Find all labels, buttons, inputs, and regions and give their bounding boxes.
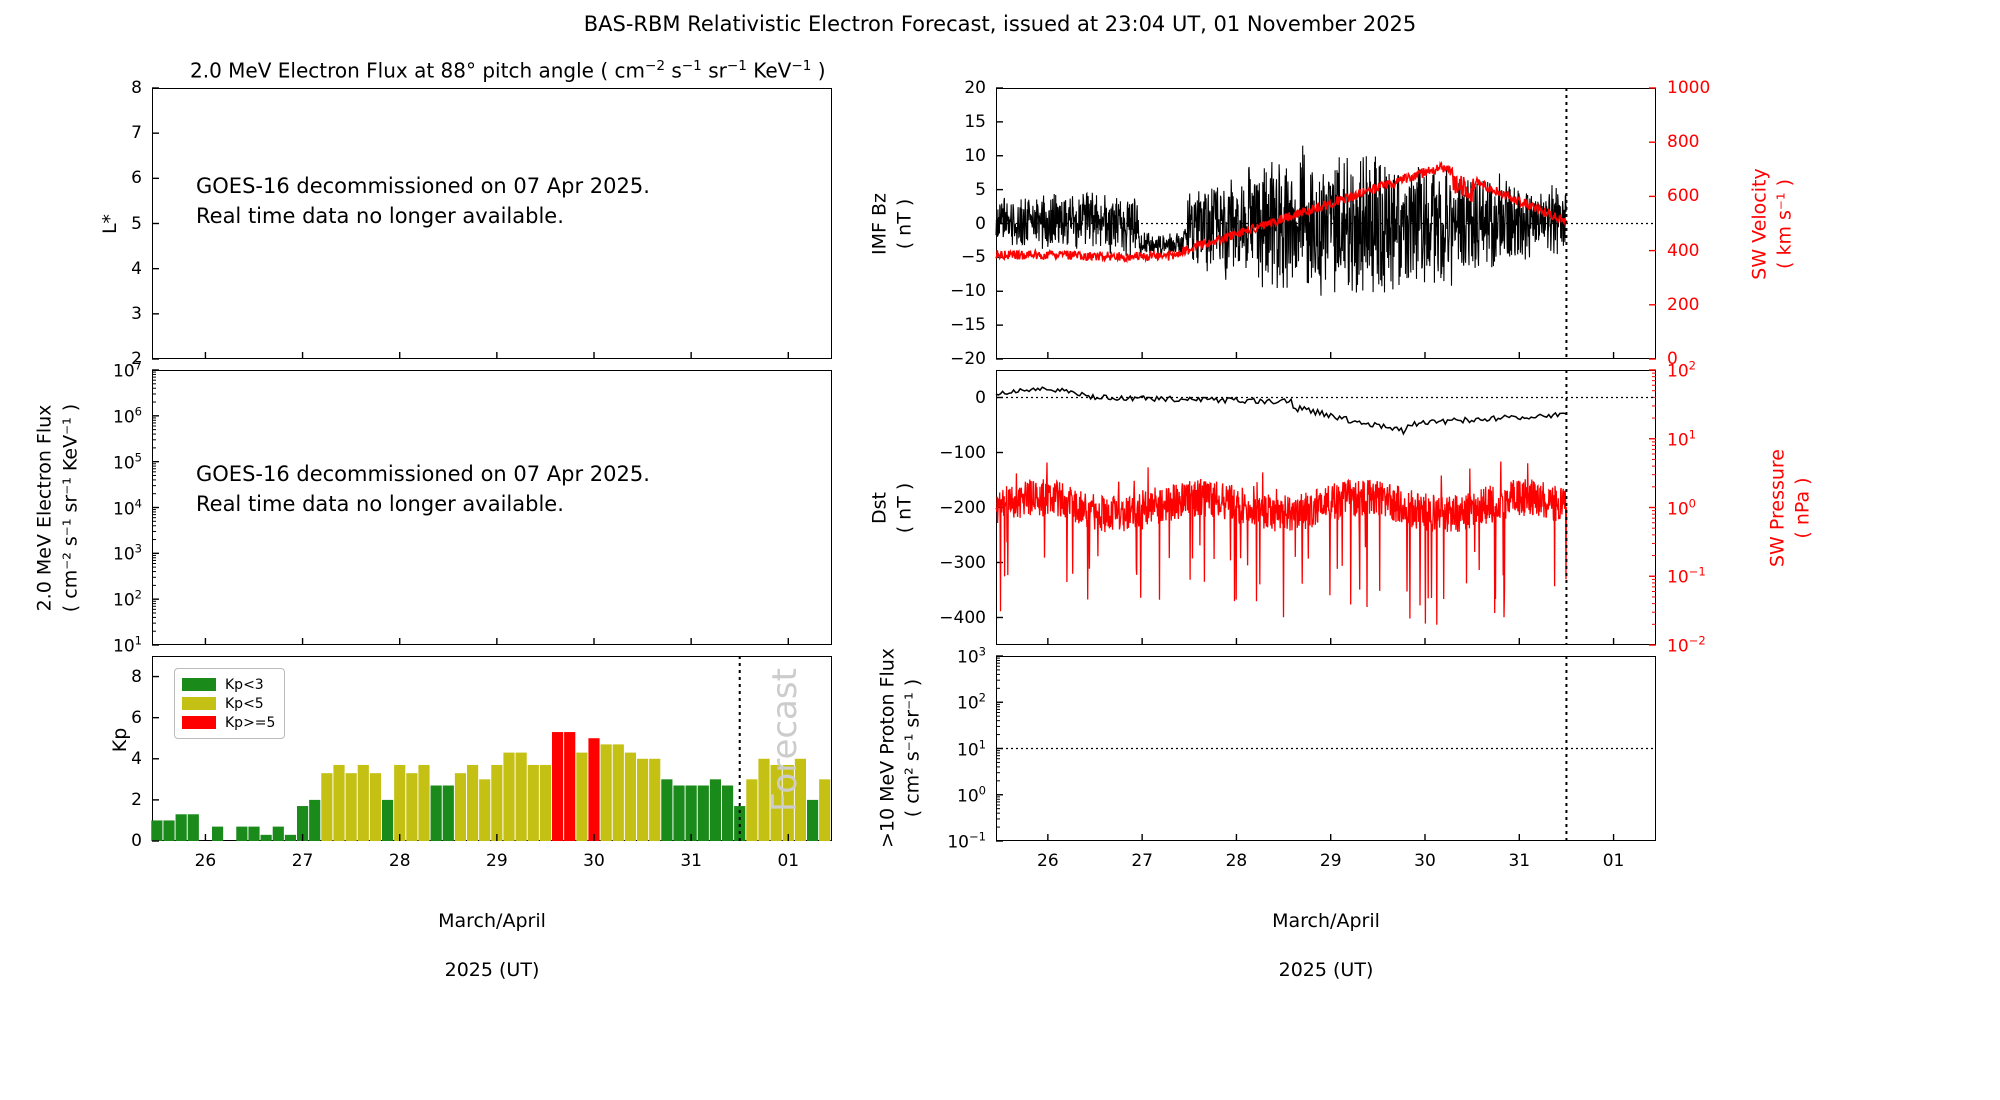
axis-tick-label: −20 bbox=[950, 349, 986, 369]
axis-tick-label: 101 bbox=[1667, 427, 1696, 450]
legend-label: Kp<3 bbox=[225, 677, 264, 693]
x-axis-line1: March/April bbox=[352, 909, 632, 934]
lstar-decommission-notice: GOES-16 decommissioned on 07 Apr 2025. R… bbox=[196, 172, 650, 232]
imf-axis-line2: ( nT ) bbox=[892, 193, 917, 255]
x-axis-line2: 2025 (UT) bbox=[352, 958, 632, 983]
flux-axis-line2: ( cm⁻² s⁻¹ sr⁻¹ KeV⁻¹ ) bbox=[58, 404, 84, 612]
x-axis-tick: 31 bbox=[680, 851, 702, 871]
proton-axis-line2: ( cm² s⁻¹ sr⁻¹ ) bbox=[900, 648, 925, 848]
axis-tick-label: 4 bbox=[131, 259, 142, 279]
axis-tick-label: 107 bbox=[113, 359, 142, 382]
axis-tick-label: −200 bbox=[939, 498, 986, 518]
axis-tick-label: 101 bbox=[957, 737, 986, 760]
proton-flux-panel bbox=[996, 656, 1656, 841]
axis-tick-label: 106 bbox=[113, 405, 142, 428]
axis-tick-label: −15 bbox=[950, 315, 986, 335]
dst-axis-line1: Dst bbox=[867, 483, 892, 534]
x-axis-tick: 29 bbox=[1320, 851, 1342, 871]
axis-tick-label: 2 bbox=[131, 790, 142, 810]
x-axis-tick: 29 bbox=[486, 851, 508, 871]
axis-tick-label: 10 bbox=[964, 146, 986, 166]
axis-tick-label: 100 bbox=[957, 783, 986, 806]
forecast-watermark: Forecast bbox=[765, 668, 805, 812]
proton-flux-axis-label: >10 MeV Proton Flux ( cm² s⁻¹ sr⁻¹ ) bbox=[875, 648, 924, 848]
axis-tick-label: 103 bbox=[113, 542, 142, 565]
x-axis-tick: 28 bbox=[389, 851, 411, 871]
axis-tick-label: 104 bbox=[113, 496, 142, 519]
axis-tick-label: 400 bbox=[1667, 241, 1699, 261]
electron-flux-axis-label: 2.0 MeV Electron Flux ( cm⁻² s⁻¹ sr⁻¹ Ke… bbox=[32, 404, 83, 612]
swv-axis-line2: ( km s⁻¹ ) bbox=[1772, 168, 1797, 279]
axis-tick-label: 10−1 bbox=[1667, 565, 1706, 588]
legend-item: Kp<5 bbox=[182, 694, 275, 713]
imf-bz-panel bbox=[996, 88, 1656, 359]
kp-legend: Kp<3 Kp<5 Kp>=5 bbox=[174, 668, 285, 739]
x-axis-tick: 01 bbox=[777, 851, 799, 871]
axis-tick-label: 15 bbox=[964, 112, 986, 132]
axis-tick-label: 0 bbox=[975, 388, 986, 408]
axis-tick-label: 5 bbox=[975, 180, 986, 200]
axis-tick-label: 6 bbox=[131, 168, 142, 188]
axis-tick-label: 105 bbox=[113, 450, 142, 473]
imf-bz-axis-label: IMF Bz ( nT ) bbox=[867, 193, 916, 255]
x-axis-tick: 01 bbox=[1603, 851, 1625, 871]
axis-tick-label: 103 bbox=[957, 645, 986, 668]
imf-axis-line1: IMF Bz bbox=[867, 193, 892, 255]
axis-tick-label: 101 bbox=[113, 634, 142, 657]
x-axis-tick: 31 bbox=[1508, 851, 1530, 871]
right-x-axis-label: March/April 2025 (UT) bbox=[1186, 884, 1466, 1007]
axis-tick-label: 3 bbox=[131, 304, 142, 324]
axis-tick-label: 7 bbox=[131, 123, 142, 143]
swp-axis-line1: SW Pressure bbox=[1765, 449, 1790, 567]
dst-panel bbox=[996, 370, 1656, 645]
axis-tick-label: 0 bbox=[131, 831, 142, 851]
dst-axis-line2: ( nT ) bbox=[892, 483, 917, 534]
x-axis-tick: 30 bbox=[583, 851, 605, 871]
axis-tick-label: −100 bbox=[939, 443, 986, 463]
x-axis-tick: 28 bbox=[1226, 851, 1248, 871]
left-x-axis-label: March/April 2025 (UT) bbox=[352, 884, 632, 1007]
electron-flux-subtitle: 2.0 MeV Electron Flux at 88° pitch angle… bbox=[190, 58, 826, 83]
kp-mid-swatch bbox=[182, 697, 216, 710]
x-axis-line2: 2025 (UT) bbox=[1186, 958, 1466, 983]
x-axis-tick: 26 bbox=[1037, 851, 1059, 871]
axis-tick-label: 102 bbox=[957, 691, 986, 714]
axis-tick-label: 10−1 bbox=[947, 830, 986, 853]
axis-tick-label: 102 bbox=[113, 588, 142, 611]
swp-axis-line2: ( nPa ) bbox=[1790, 449, 1815, 567]
axis-tick-label: 600 bbox=[1667, 186, 1699, 206]
kp-low-swatch bbox=[182, 678, 216, 691]
axis-tick-label: 5 bbox=[131, 214, 142, 234]
axis-tick-label: −400 bbox=[939, 608, 986, 628]
axis-tick-label: 100 bbox=[1667, 496, 1696, 519]
kp-axis-label: Kp bbox=[109, 728, 131, 753]
axis-tick-label: 10−2 bbox=[1667, 634, 1706, 657]
axis-tick-label: 4 bbox=[131, 749, 142, 769]
axis-tick-label: 8 bbox=[131, 667, 142, 687]
legend-item: Kp>=5 bbox=[182, 713, 275, 732]
kp-high-swatch bbox=[182, 716, 216, 729]
page-title: BAS-RBM Relativistic Electron Forecast, … bbox=[0, 12, 2000, 36]
axis-tick-label: 6 bbox=[131, 708, 142, 728]
x-axis-tick: 26 bbox=[195, 851, 217, 871]
swv-axis-line1: SW Velocity bbox=[1747, 168, 1772, 279]
axis-tick-label: 0 bbox=[975, 214, 986, 234]
axis-tick-label: 1000 bbox=[1667, 78, 1710, 98]
sw-pressure-axis-label: SW Pressure ( nPa ) bbox=[1765, 449, 1814, 567]
flux-decommission-notice: GOES-16 decommissioned on 07 Apr 2025. R… bbox=[196, 460, 650, 520]
axis-tick-label: 800 bbox=[1667, 132, 1699, 152]
forecast-page: BAS-RBM Relativistic Electron Forecast, … bbox=[0, 0, 2000, 1100]
axis-tick-label: 200 bbox=[1667, 295, 1699, 315]
legend-label: Kp>=5 bbox=[225, 715, 275, 731]
proton-axis-line1: >10 MeV Proton Flux bbox=[875, 648, 900, 848]
axis-tick-label: −300 bbox=[939, 553, 986, 573]
axis-tick-label: 20 bbox=[964, 78, 986, 98]
x-axis-tick: 27 bbox=[1131, 851, 1153, 871]
dst-axis-label: Dst ( nT ) bbox=[867, 483, 916, 534]
legend-label: Kp<5 bbox=[225, 696, 264, 712]
axis-tick-label: −10 bbox=[950, 281, 986, 301]
x-axis-tick: 27 bbox=[292, 851, 314, 871]
x-axis-line1: March/April bbox=[1186, 909, 1466, 934]
axis-tick-label: 102 bbox=[1667, 359, 1696, 382]
legend-item: Kp<3 bbox=[182, 675, 275, 694]
sw-velocity-axis-label: SW Velocity ( km s⁻¹ ) bbox=[1747, 168, 1796, 279]
axis-tick-label: 8 bbox=[131, 78, 142, 98]
flux-axis-line1: 2.0 MeV Electron Flux bbox=[32, 404, 58, 612]
x-axis-tick: 30 bbox=[1414, 851, 1436, 871]
lstar-axis-label: L* bbox=[99, 214, 121, 234]
axis-tick-label: −5 bbox=[961, 247, 986, 267]
